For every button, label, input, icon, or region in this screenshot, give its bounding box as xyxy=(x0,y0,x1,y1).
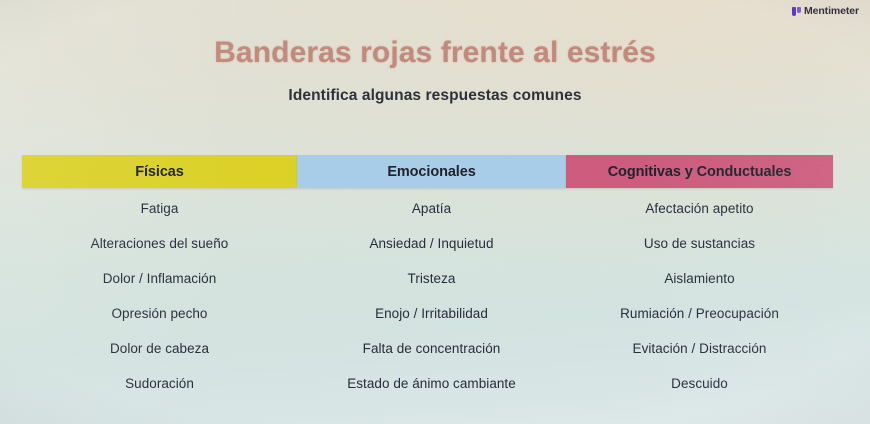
cell-cognitivas-5: Evitación / Distracción xyxy=(566,331,833,366)
table-row: Opresión pecho Enojo / Irritabilidad Rum… xyxy=(22,296,833,331)
table-body: Fatiga Apatía Afectación apetito Alterac… xyxy=(22,191,833,401)
cell-emocionales-6: Estado de ánimo cambiante xyxy=(297,366,566,401)
cell-cognitivas-1: Afectación apetito xyxy=(566,191,833,226)
cell-fisicas-4: Opresión pecho xyxy=(22,296,297,331)
column-header-emocionales: Emocionales xyxy=(297,155,566,188)
mentimeter-mark-icon xyxy=(792,7,801,16)
presentation-slide: Mentimeter Banderas rojas frente al estr… xyxy=(0,0,870,424)
cell-emocionales-5: Falta de concentración xyxy=(297,331,566,366)
cell-fisicas-5: Dolor de cabeza xyxy=(22,331,297,366)
column-header-fisicas: Físicas xyxy=(22,155,297,188)
mentimeter-logo: Mentimeter xyxy=(792,5,859,17)
cell-cognitivas-4: Rumiación / Preocupación xyxy=(566,296,833,331)
cell-emocionales-1: Apatía xyxy=(297,191,566,226)
table-row: Fatiga Apatía Afectación apetito xyxy=(22,191,833,226)
categories-table: Físicas Emocionales Cognitivas y Conduct… xyxy=(22,155,833,401)
mentimeter-wordmark: Mentimeter xyxy=(804,5,859,17)
cell-emocionales-3: Tristeza xyxy=(297,261,566,296)
slide-title: Banderas rojas frente al estrés xyxy=(0,36,870,70)
table-header-row: Físicas Emocionales Cognitivas y Conduct… xyxy=(22,155,833,188)
cell-fisicas-1: Fatiga xyxy=(22,191,297,226)
table-row: Dolor de cabeza Falta de concentración E… xyxy=(22,331,833,366)
cell-emocionales-4: Enojo / Irritabilidad xyxy=(297,296,566,331)
cell-cognitivas-6: Descuido xyxy=(566,366,833,401)
table-row: Dolor / Inflamación Tristeza Aislamiento xyxy=(22,261,833,296)
table-row: Sudoración Estado de ánimo cambiante Des… xyxy=(22,366,833,401)
cell-fisicas-3: Dolor / Inflamación xyxy=(22,261,297,296)
cell-cognitivas-3: Aislamiento xyxy=(566,261,833,296)
column-header-cognitivas-conductuales: Cognitivas y Conductuales xyxy=(566,155,833,188)
cell-fisicas-2: Alteraciones del sueño xyxy=(22,226,297,261)
cell-emocionales-2: Ansiedad / Inquietud xyxy=(297,226,566,261)
cell-cognitivas-2: Uso de sustancias xyxy=(566,226,833,261)
slide-subtitle: Identifica algunas respuestas comunes xyxy=(0,87,870,105)
cell-fisicas-6: Sudoración xyxy=(22,366,297,401)
table-row: Alteraciones del sueño Ansiedad / Inquie… xyxy=(22,226,833,261)
